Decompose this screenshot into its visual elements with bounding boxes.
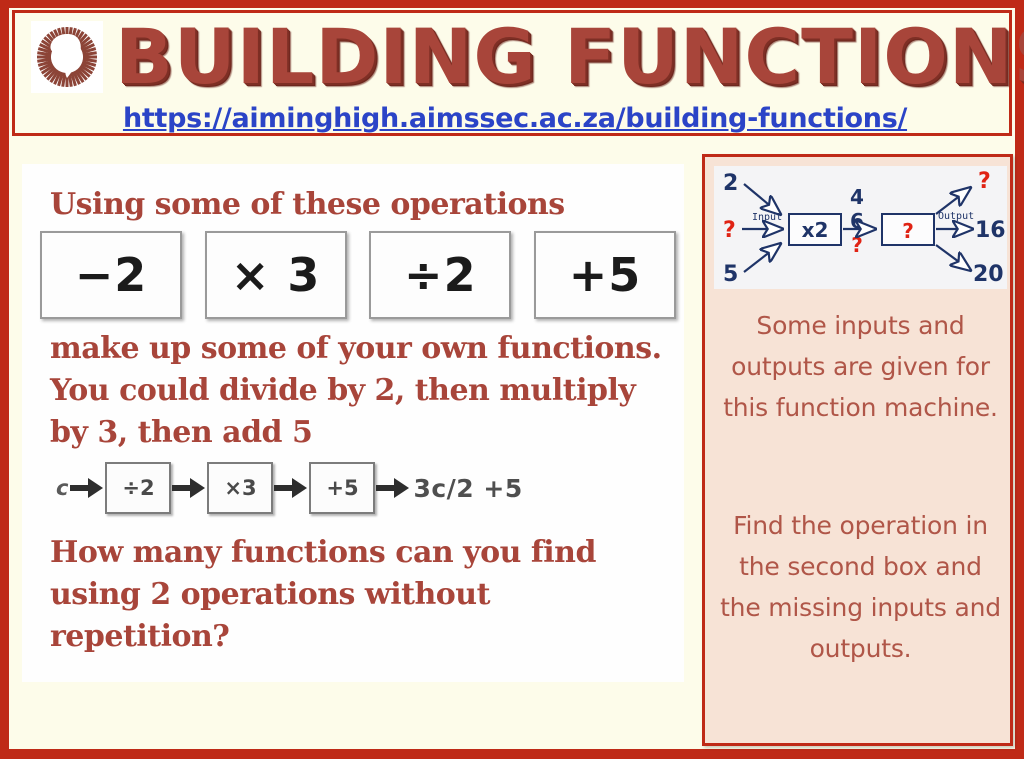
svg-text:5: 5 [723, 262, 738, 287]
svg-text:2: 2 [723, 171, 738, 196]
svg-text:?: ? [851, 233, 863, 257]
operation-box-minus-2[interactable]: −2 [40, 231, 182, 319]
left-content-card: Using some of these operations −2 × 3 ÷2… [22, 164, 684, 682]
svg-text:x2: x2 [802, 218, 829, 242]
svg-text:16: 16 [975, 218, 1006, 243]
function-machine-diagram: 2 ? 5 Input x2 4 6 ? ? [714, 166, 1007, 289]
chain-input-variable: c [56, 476, 68, 500]
operation-box-divide-2[interactable]: ÷2 [369, 231, 511, 319]
instruction-line-1: Using some of these operations [50, 184, 565, 226]
chain-result-expression: 3c/2 +5 [413, 474, 522, 503]
question-line-2: using 2 operations without [50, 574, 490, 616]
slide-header: BUILDING FUNCTIONS https://aiminghigh.ai… [12, 10, 1012, 136]
svg-text:?: ? [902, 219, 914, 243]
panel-paragraph-2: Find the operation in the second box and… [717, 505, 1004, 669]
operation-box-plus-5[interactable]: +5 [534, 231, 676, 319]
svg-text:?: ? [978, 169, 991, 194]
instruction-line-3: You could divide by 2, then multiply [50, 370, 635, 412]
panel-paragraph-1: Some inputs and outputs are given for th… [717, 305, 1004, 428]
chain-step-box-3: +5 [309, 462, 375, 514]
instruction-line-4: by 3, then add 5 [50, 412, 312, 454]
svg-text:Output: Output [938, 211, 974, 222]
function-chain-diagram: c ÷2 ×3 +5 3c/2 +5 [56, 456, 523, 520]
slide-canvas: BUILDING FUNCTIONS https://aiminghigh.ai… [0, 0, 1024, 759]
question-line-1: How many functions can you find [50, 532, 596, 574]
chain-arrow-icon-2 [172, 475, 206, 501]
instruction-line-2: make up some of your own functions. [50, 328, 662, 370]
page-title: BUILDING FUNCTIONS [115, 11, 995, 103]
svg-text:?: ? [723, 218, 736, 243]
chain-arrow-icon-1 [70, 475, 104, 501]
chain-arrow-icon-3 [274, 475, 308, 501]
chain-arrow-icon-4 [376, 475, 410, 501]
source-url-link[interactable]: https://aiminghigh.aimssec.ac.za/buildin… [123, 103, 907, 134]
chain-step-box-2: ×3 [207, 462, 273, 514]
operation-box-times-3[interactable]: × 3 [205, 231, 347, 319]
question-line-3: repetition? [50, 616, 229, 658]
svg-text:20: 20 [973, 262, 1004, 287]
operations-row: −2 × 3 ÷2 +5 [40, 230, 676, 320]
svg-text:Input: Input [752, 212, 782, 223]
chain-step-box-1: ÷2 [105, 462, 171, 514]
svg-text:4: 4 [850, 185, 864, 209]
aimssec-africa-sunburst-logo-icon [31, 21, 103, 93]
url-container: https://aiminghigh.aimssec.ac.za/buildin… [15, 103, 1015, 134]
right-task-panel: 2 ? 5 Input x2 4 6 ? ? [702, 154, 1013, 746]
